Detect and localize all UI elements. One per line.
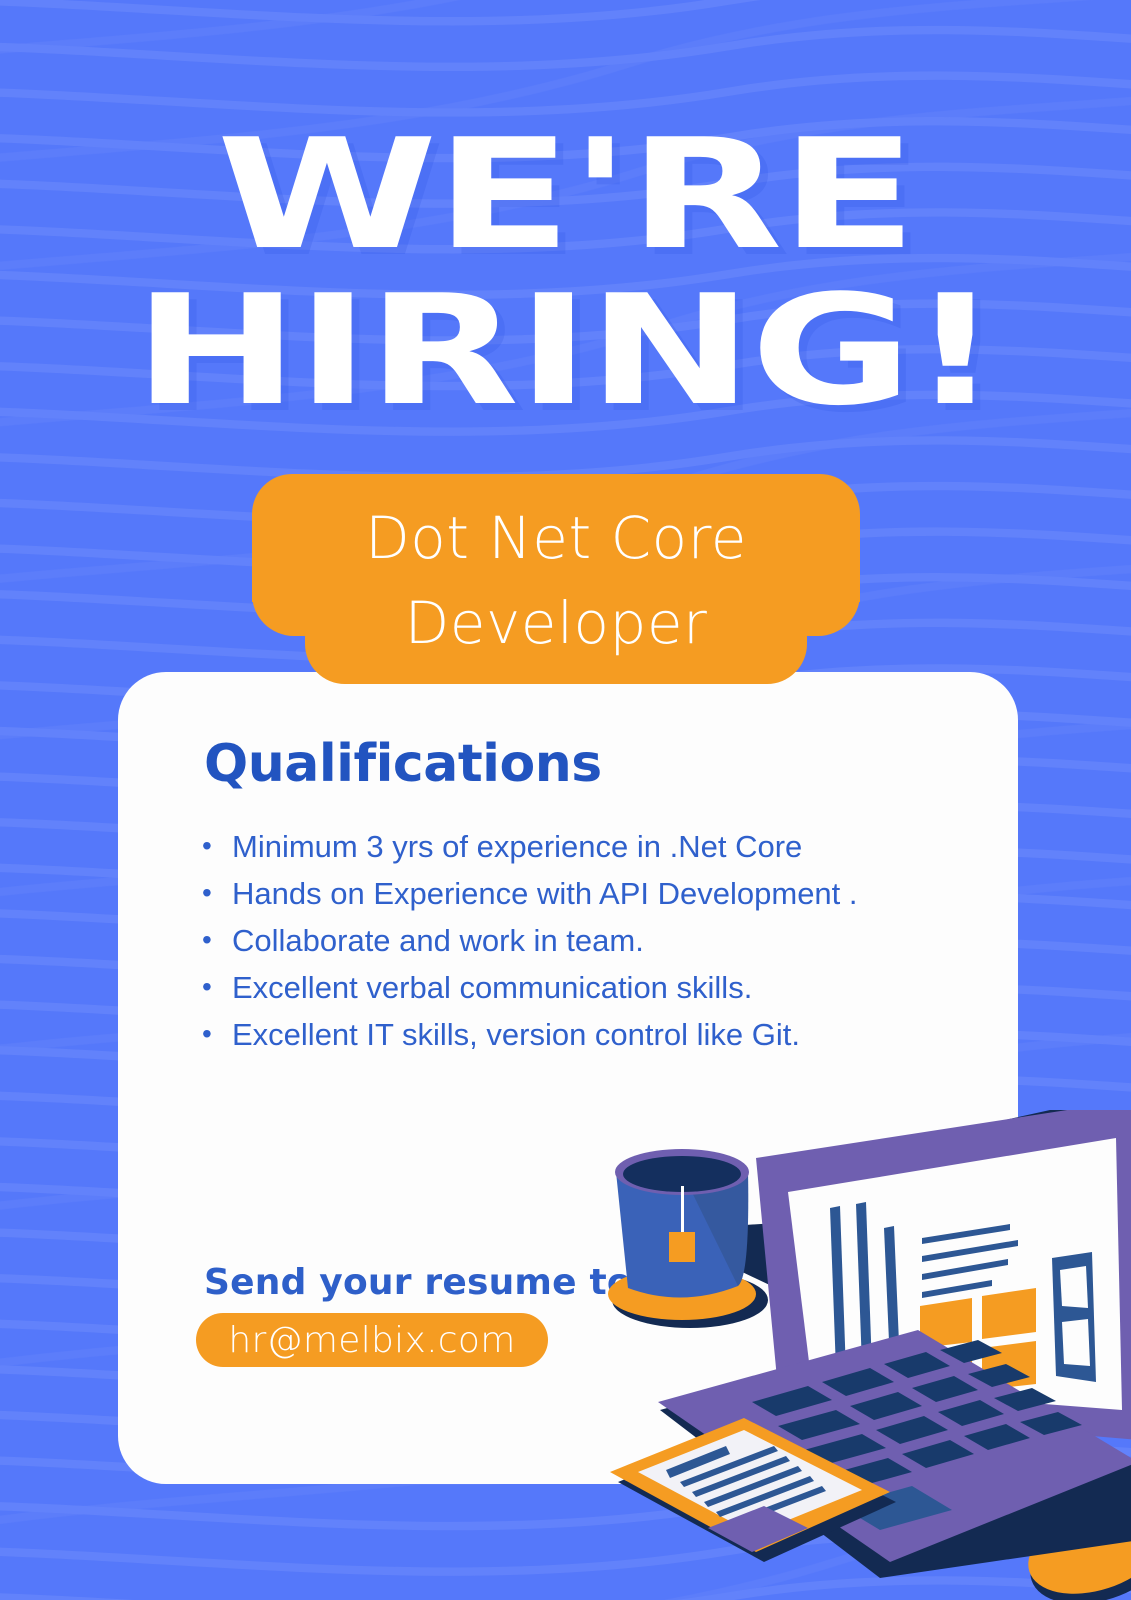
poster-headline: WE'RE HIRING! [0, 128, 1131, 418]
hiring-poster: WE'RE HIRING! Dot Net Core Developer Qua… [0, 0, 1131, 1600]
list-item: Minimum 3 yrs of experience in .Net Core [200, 824, 920, 869]
list-item: Excellent verbal communication skills. [200, 965, 920, 1010]
list-item: Excellent IT skills, version control lik… [200, 1012, 920, 1057]
job-title-badge-bottom: Developer [305, 562, 807, 684]
list-item: Collaborate and work in team. [200, 918, 920, 963]
headline-line-1: WE'RE [0, 128, 1131, 262]
contact-email-text: hr@melbix.com [228, 1320, 515, 1361]
qualifications-list: Minimum 3 yrs of experience in .Net Core… [200, 824, 920, 1059]
details-card: Qualifications Minimum 3 yrs of experien… [118, 672, 1018, 1484]
qualifications-heading: Qualifications [204, 734, 602, 794]
headline-line-2: HIRING! [0, 284, 1131, 418]
send-resume-label: Send your resume to: [204, 1262, 646, 1303]
job-title-line-2: Developer [405, 589, 708, 657]
job-title-line-1: Dot Net Core [365, 504, 747, 572]
contact-email-pill[interactable]: hr@melbix.com [196, 1313, 548, 1367]
job-title-badge: Dot Net Core Developer [0, 474, 1131, 704]
list-item: Hands on Experience with API Development… [200, 871, 920, 916]
